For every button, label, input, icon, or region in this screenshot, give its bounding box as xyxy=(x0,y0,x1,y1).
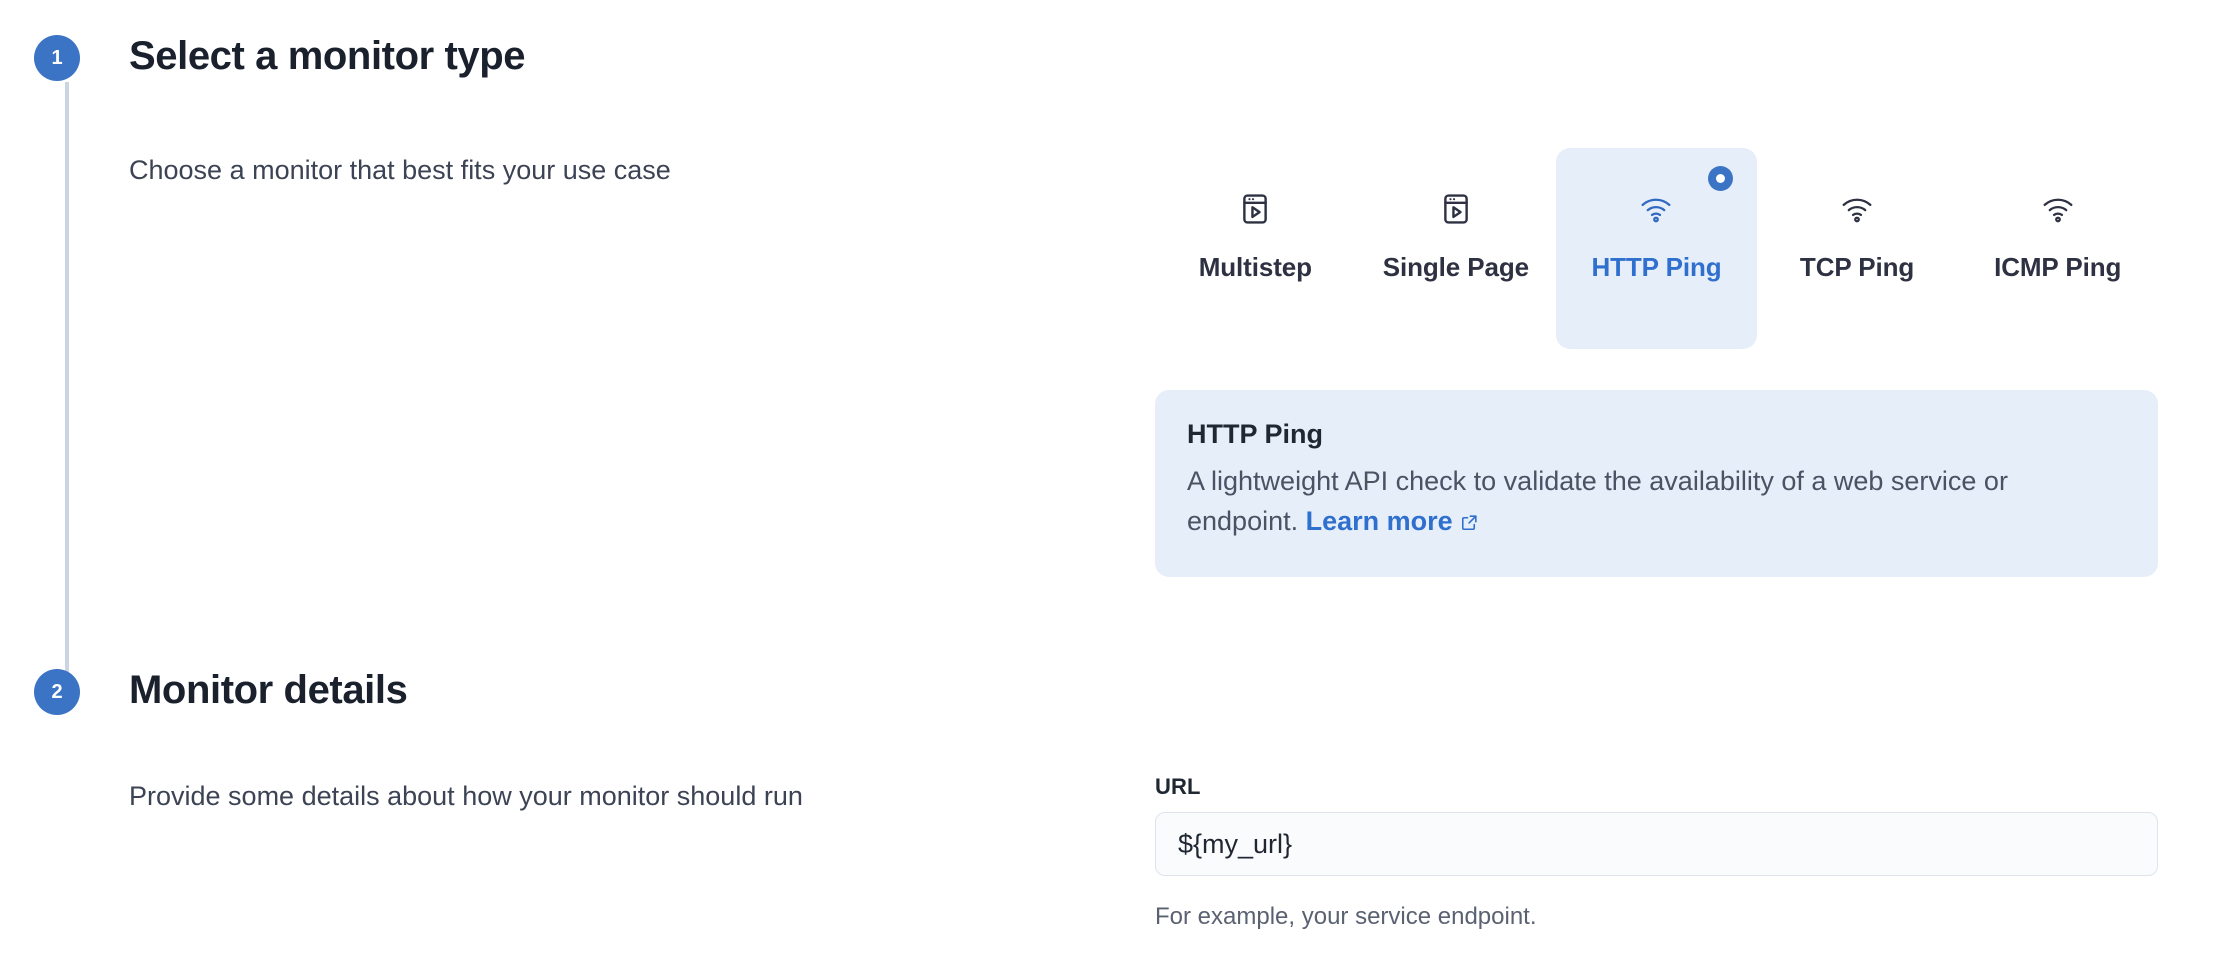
monitor-type-label: HTTP Ping xyxy=(1591,252,1721,283)
learn-more-link[interactable]: Learn more xyxy=(1306,506,1453,536)
monitor-type-label: Multistep xyxy=(1199,252,1312,283)
monitor-type-info-panel: HTTP Ping A lightweight API check to val… xyxy=(1155,390,2158,577)
browser-play-icon xyxy=(1437,190,1475,228)
step-number: 1 xyxy=(51,48,62,68)
step-2-title: Monitor details xyxy=(129,667,407,713)
stepper-connector-line xyxy=(65,82,69,690)
radio-selected-icon[interactable] xyxy=(1708,166,1733,191)
learn-more-label: Learn more xyxy=(1306,506,1453,536)
external-link-icon xyxy=(1460,504,1479,523)
monitor-type-option-multistep[interactable]: Multistep xyxy=(1155,148,1356,349)
monitor-type-label: Single Page xyxy=(1383,252,1529,283)
step-1-title: Select a monitor type xyxy=(129,33,525,79)
wifi-icon xyxy=(2039,190,2077,228)
url-field-help-text: For example, your service endpoint. xyxy=(1155,903,1537,931)
step-2-subtitle: Provide some details about how your moni… xyxy=(129,778,803,814)
monitor-type-option-tcp-ping[interactable]: TCP Ping xyxy=(1757,148,1958,349)
browser-play-icon xyxy=(1236,190,1274,228)
step-number: 2 xyxy=(51,682,62,702)
monitor-creation-page: 1 2 Select a monitor type Choose a monit… xyxy=(0,0,2218,958)
wifi-icon xyxy=(1637,190,1675,228)
monitor-type-option-icmp-ping[interactable]: ICMP Ping xyxy=(1957,148,2158,349)
wifi-icon xyxy=(1838,190,1876,228)
monitor-type-selector: Multistep Single Page xyxy=(1155,148,2158,349)
monitor-type-label: ICMP Ping xyxy=(1994,252,2121,283)
step-badge-2: 2 xyxy=(34,669,80,715)
url-input[interactable] xyxy=(1155,812,2158,876)
step-1-subtitle: Choose a monitor that best fits your use… xyxy=(129,152,671,188)
step-badge-1: 1 xyxy=(34,35,80,81)
monitor-type-option-single-page[interactable]: Single Page xyxy=(1356,148,1557,349)
url-field-label: URL xyxy=(1155,774,1201,800)
monitor-type-label: TCP Ping xyxy=(1800,252,1914,283)
info-panel-description-wrapper: A lightweight API check to validate the … xyxy=(1187,462,2126,540)
monitor-type-option-http-ping[interactable]: HTTP Ping xyxy=(1556,148,1757,349)
info-panel-title: HTTP Ping xyxy=(1187,418,2126,450)
